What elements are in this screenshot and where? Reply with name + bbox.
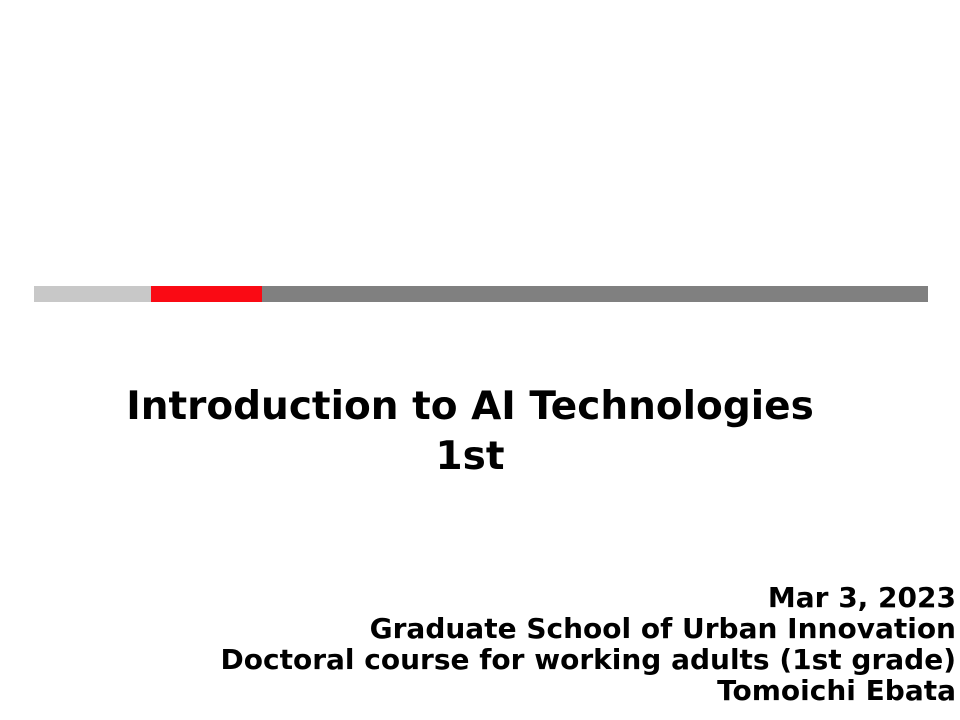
credits-block: Mar 3, 2023 Graduate School of Urban Inn… [221,582,956,706]
title-line-secondary: 1st [60,432,880,482]
page-title: Introduction to AI Technologies 1st [60,382,880,482]
title-slide: Introduction to AI Technologies 1st Mar … [0,0,960,720]
decorative-accent-bar [34,286,928,302]
accent-bar-segment-light-gray [34,286,151,302]
credit-line-date: Mar 3, 2023 [221,582,956,613]
credit-line-institution: Graduate School of Urban Innovation [221,613,956,644]
credit-line-program: Doctoral course for working adults (1st … [221,644,956,675]
credit-line-author: Tomoichi Ebata [221,675,956,706]
title-line-primary: Introduction to AI Technologies [60,382,880,432]
accent-bar-segment-red [151,286,262,302]
accent-bar-segment-gray [262,286,928,302]
